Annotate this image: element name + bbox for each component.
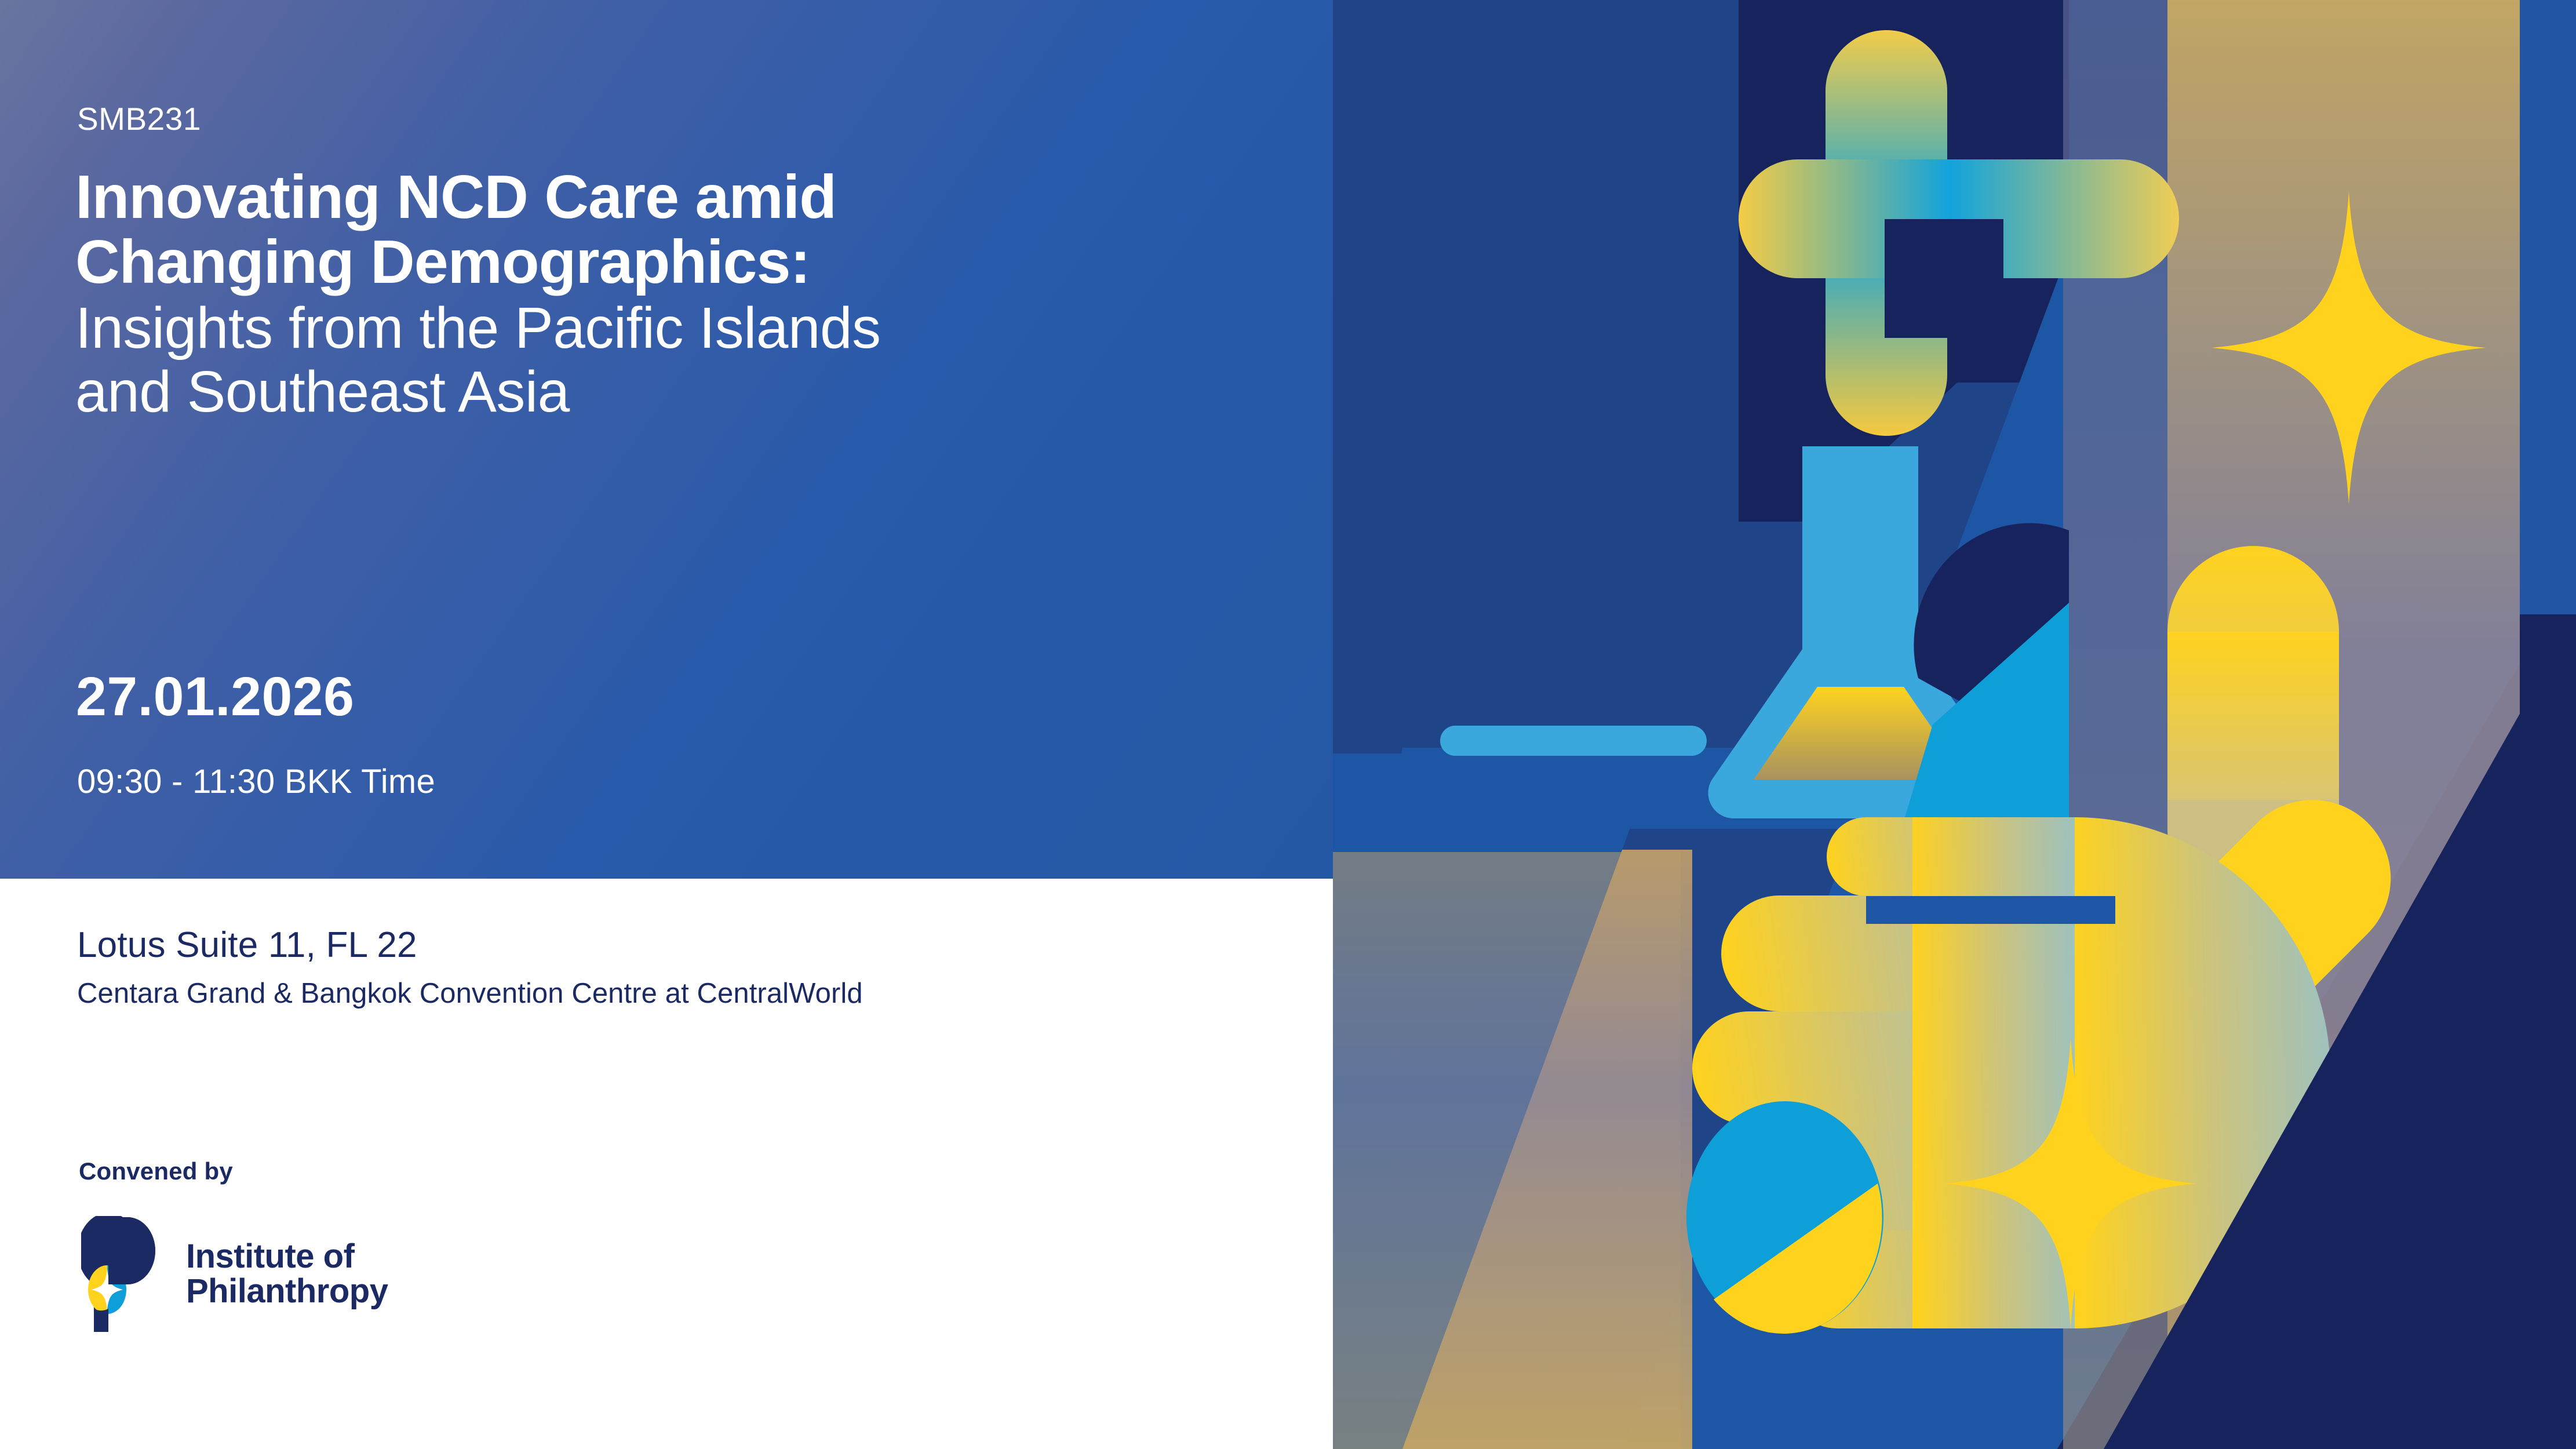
event-code: SMB231: [77, 103, 201, 135]
venue-room: Lotus Suite 11, FL 22: [77, 927, 417, 963]
title-block: Innovating NCD Care amid Changing Demogr…: [75, 165, 1292, 424]
logo-glyph: [81, 1216, 164, 1332]
graphic-composition: [1333, 0, 2576, 1449]
event-date: 27.01.2026: [76, 669, 354, 724]
institute-of-philanthropy-logo-mark: [81, 1216, 164, 1332]
venue-place: Centara Grand & Bangkok Convention Centr…: [77, 980, 863, 1008]
event-title-primary: Innovating NCD Care amid Changing Demogr…: [75, 165, 1292, 295]
decorative-graphic-panel: [1333, 0, 2576, 1449]
institute-of-philanthropy-wordmark: Institute of Philanthropy: [186, 1239, 388, 1309]
event-banner: SMB231 Innovating NCD Care amid Changing…: [0, 0, 2576, 1449]
convened-by-label: Convened by: [79, 1159, 233, 1184]
event-title-subtitle: Insights from the Pacific Islands and So…: [75, 296, 1292, 424]
organiser-logo: Institute of Philanthropy: [81, 1216, 388, 1332]
event-time: 09:30 - 11:30 BKK Time: [77, 765, 435, 799]
bar-accent: [1440, 726, 1707, 756]
